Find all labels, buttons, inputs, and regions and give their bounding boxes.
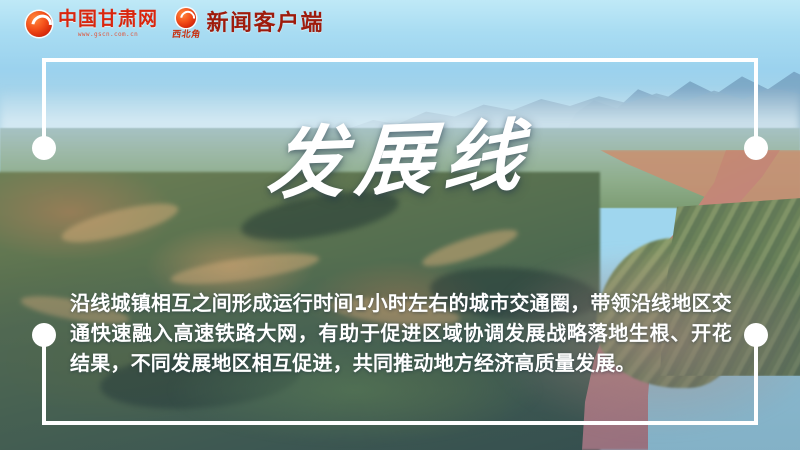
- body-paragraph: 沿线城镇相互之间形成运行时间1小时左右的城市交通圈，带领沿线地区交通快速融入高速…: [70, 288, 732, 378]
- xibeijiao-mark-group: 西北角: [172, 8, 201, 40]
- body-copy: 沿线城镇相互之间形成运行时间1小时左右的城市交通圈，带领沿线地区交通快速融入高速…: [70, 288, 732, 378]
- logo-news-client[interactable]: 西北角 新闻客户端: [172, 8, 324, 40]
- xibeijiao-mark: 西北角: [171, 31, 201, 40]
- gansu-net-name: 中国甘肃网: [58, 10, 158, 29]
- background-photo-aerial-yellow-river: [0, 0, 800, 450]
- gansu-net-url: www.gscn.com.cn: [78, 31, 138, 38]
- page-title-text: 发展线: [264, 93, 537, 214]
- flame-swirl-icon: [176, 8, 196, 28]
- gansu-net-wordmark: 中国甘肃网 www.gscn.com.cn: [58, 10, 158, 38]
- poster-canvas: 中国甘肃网 www.gscn.com.cn 西北角 新闻客户端 发展线 沿线城镇…: [0, 0, 800, 450]
- flame-swirl-icon: [26, 11, 52, 37]
- news-client-name: 新闻客户端: [207, 13, 325, 35]
- logo-gansu-net[interactable]: 中国甘肃网 www.gscn.com.cn: [26, 10, 158, 38]
- header-logo-bar: 中国甘肃网 www.gscn.com.cn 西北角 新闻客户端: [0, 0, 800, 48]
- page-title: 发展线: [0, 98, 800, 210]
